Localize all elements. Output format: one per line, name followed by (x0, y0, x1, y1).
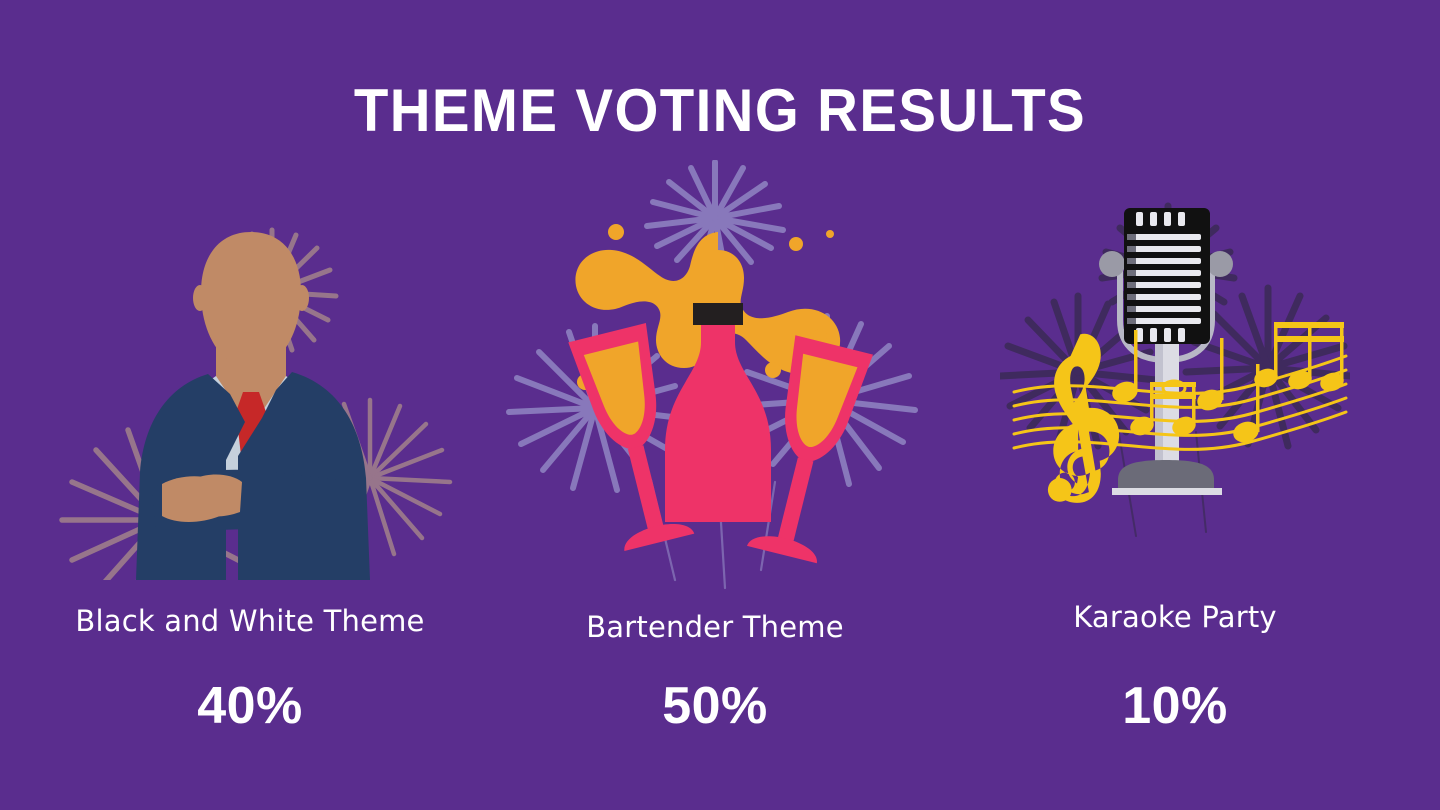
slide-canvas: THEME VOTING RESULTS (0, 0, 1440, 810)
businessman-in-suit-icon (40, 160, 460, 580)
option-column-karaoke-party[interactable]: Karaoke Party 10% (1000, 160, 1350, 760)
option-percent: 10% (1000, 676, 1350, 736)
option-label: Black and White Theme (40, 604, 460, 638)
option-percent: 40% (40, 676, 460, 736)
page-title: THEME VOTING RESULTS (43, 78, 1397, 144)
option-label: Karaoke Party (1000, 600, 1350, 634)
option-percent: 50% (475, 676, 955, 736)
option-column-bartender-theme[interactable]: Bartender Theme 50% (475, 160, 955, 760)
champagne-bottle-and-glasses-icon (475, 160, 955, 590)
vintage-microphone-icon (1000, 160, 1350, 560)
option-label: Bartender Theme (475, 610, 955, 644)
option-column-black-and-white-theme[interactable]: Black and White Theme 40% (40, 160, 460, 760)
